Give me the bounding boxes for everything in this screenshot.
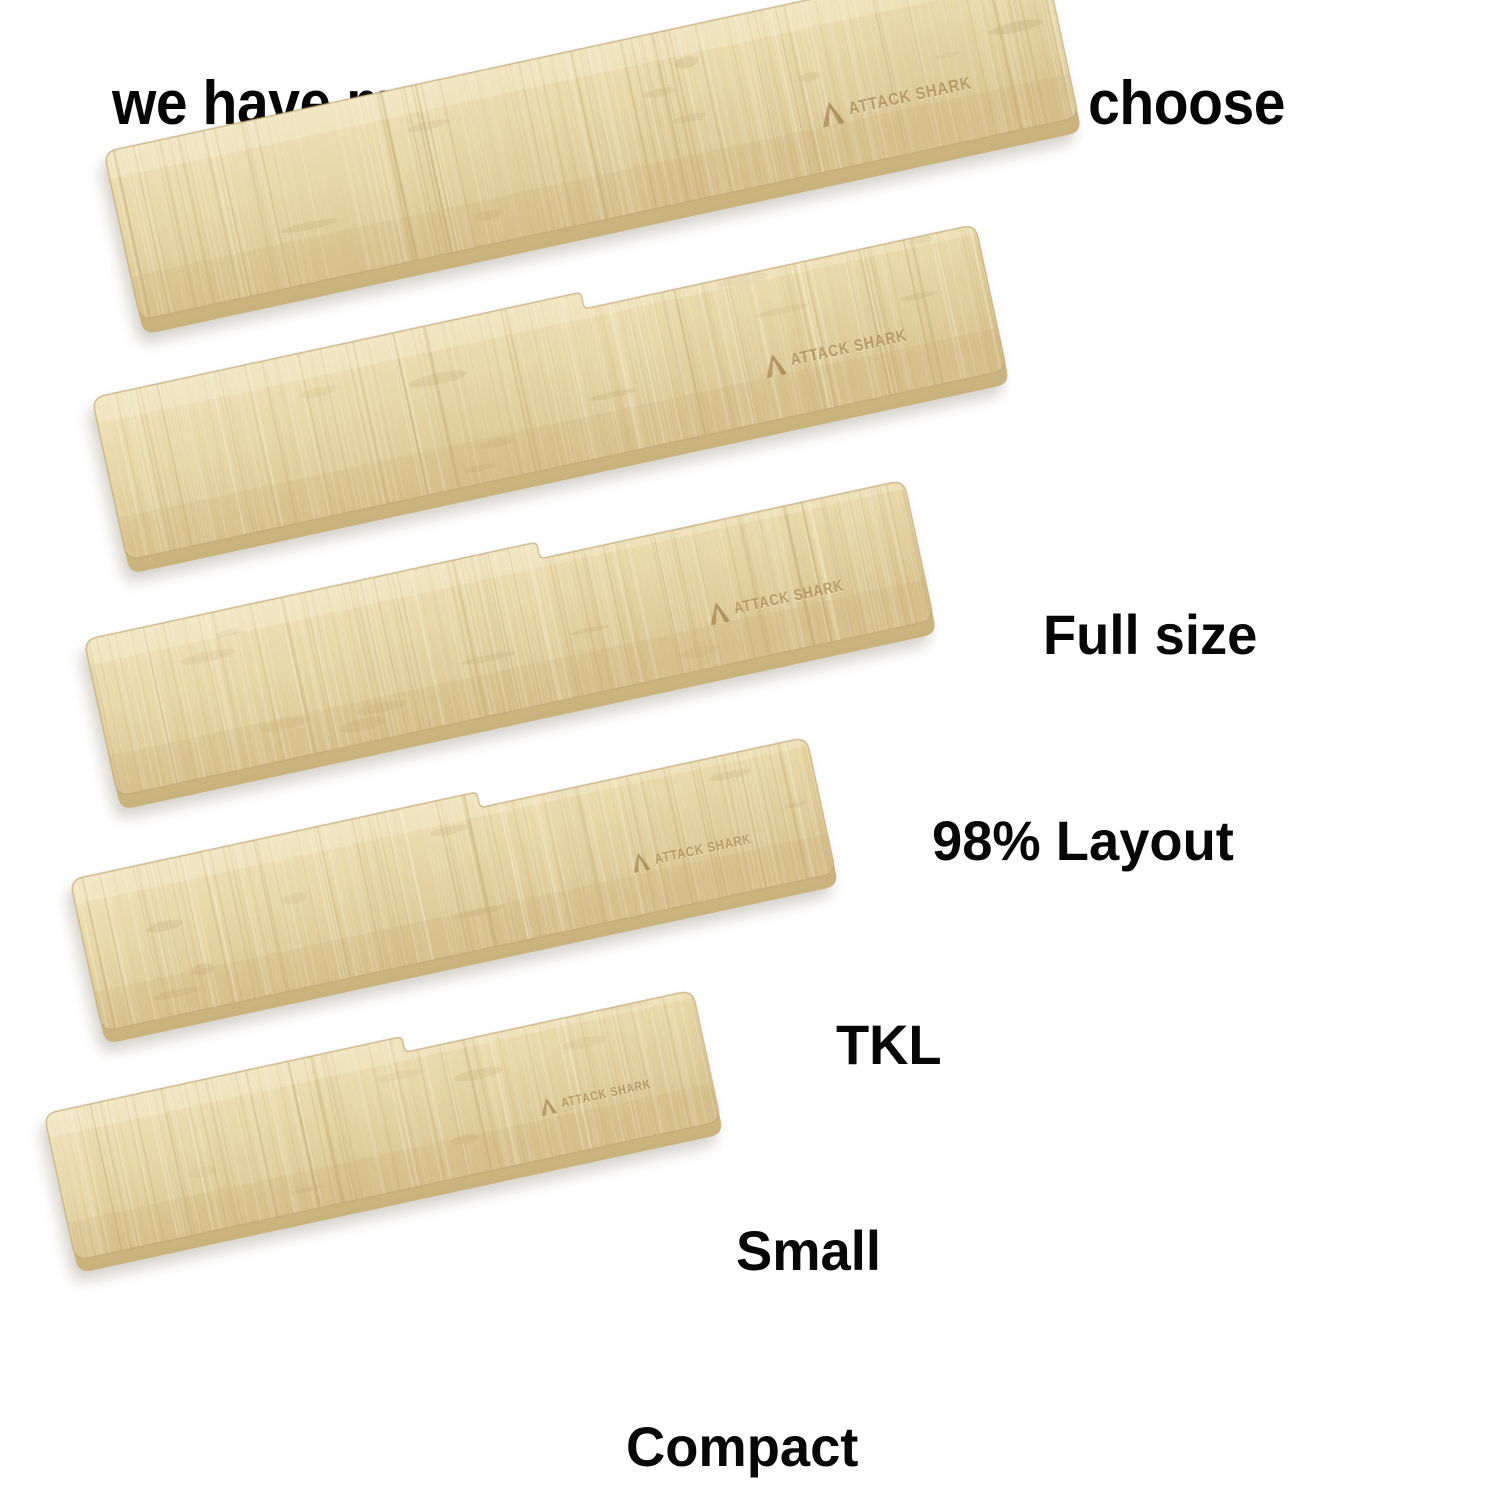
size-label-98-layout: 98% Layout xyxy=(932,812,1234,870)
size-label-full-size: Full size xyxy=(1043,606,1257,664)
product-size-comparison-image: we have made more sizes for you to choos… xyxy=(0,0,1500,1500)
size-label-tkl: TKL xyxy=(836,1016,942,1074)
size-label-compact: Compact xyxy=(626,1418,858,1476)
size-label-small: Small xyxy=(736,1222,881,1280)
